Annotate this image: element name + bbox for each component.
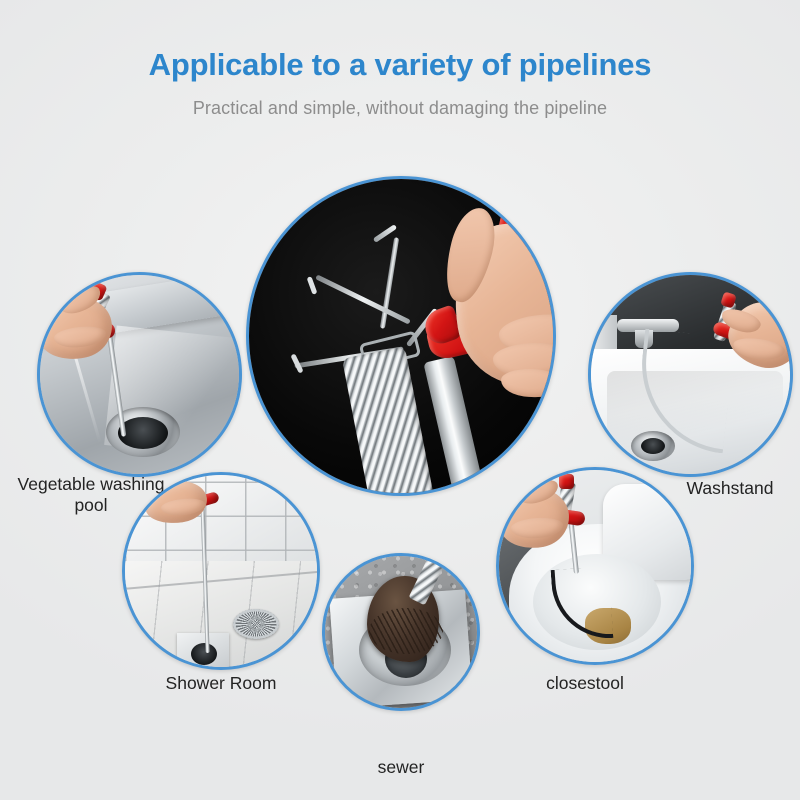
- caption-sewer: sewer: [321, 757, 481, 778]
- panel-disc: [496, 467, 694, 665]
- panel-closestool: [496, 467, 694, 665]
- debris-strands: [369, 608, 443, 654]
- caption-closestool: closestool: [515, 673, 655, 694]
- scene-toilet-bowl: [499, 470, 691, 662]
- floor-drain-hole: [191, 643, 217, 665]
- floor-grate-round: [233, 609, 279, 639]
- panel-disc: [37, 272, 242, 477]
- header: Applicable to a variety of pipelines Pra…: [0, 0, 800, 119]
- panel-disc: [122, 472, 320, 670]
- claw-wire-left: [315, 274, 411, 324]
- scene-drain-cleaner-tool-on-black: [249, 179, 553, 493]
- page-title: Applicable to a variety of pipelines: [0, 48, 800, 82]
- red-end-cap: [559, 474, 574, 489]
- finger-pinky: [501, 368, 556, 398]
- scene-stainless-steel-kitchen-sink: [40, 275, 239, 474]
- panel-shower-room: [122, 472, 320, 670]
- panel-disc: [588, 272, 793, 477]
- panel-sewer: [322, 553, 480, 711]
- page-subtitle: Practical and simple, without damaging t…: [0, 98, 800, 119]
- tool-shaft: [423, 356, 497, 496]
- caption-shower-room: Shower Room: [131, 673, 311, 694]
- scene-white-ceramic-basin: [591, 275, 790, 474]
- panel-disc: [322, 553, 480, 711]
- panel-vegetable-washing-pool: [37, 272, 242, 477]
- panel-washstand: [588, 272, 793, 477]
- panel-disc: [246, 176, 556, 496]
- panel-center-product: [246, 176, 556, 496]
- infographic-page: Applicable to a variety of pipelines Pra…: [0, 0, 800, 800]
- scene-tiled-shower-floor: [125, 475, 317, 667]
- basin-drain-hole: [641, 438, 665, 454]
- scene-floor-drain-with-debris: [325, 556, 477, 708]
